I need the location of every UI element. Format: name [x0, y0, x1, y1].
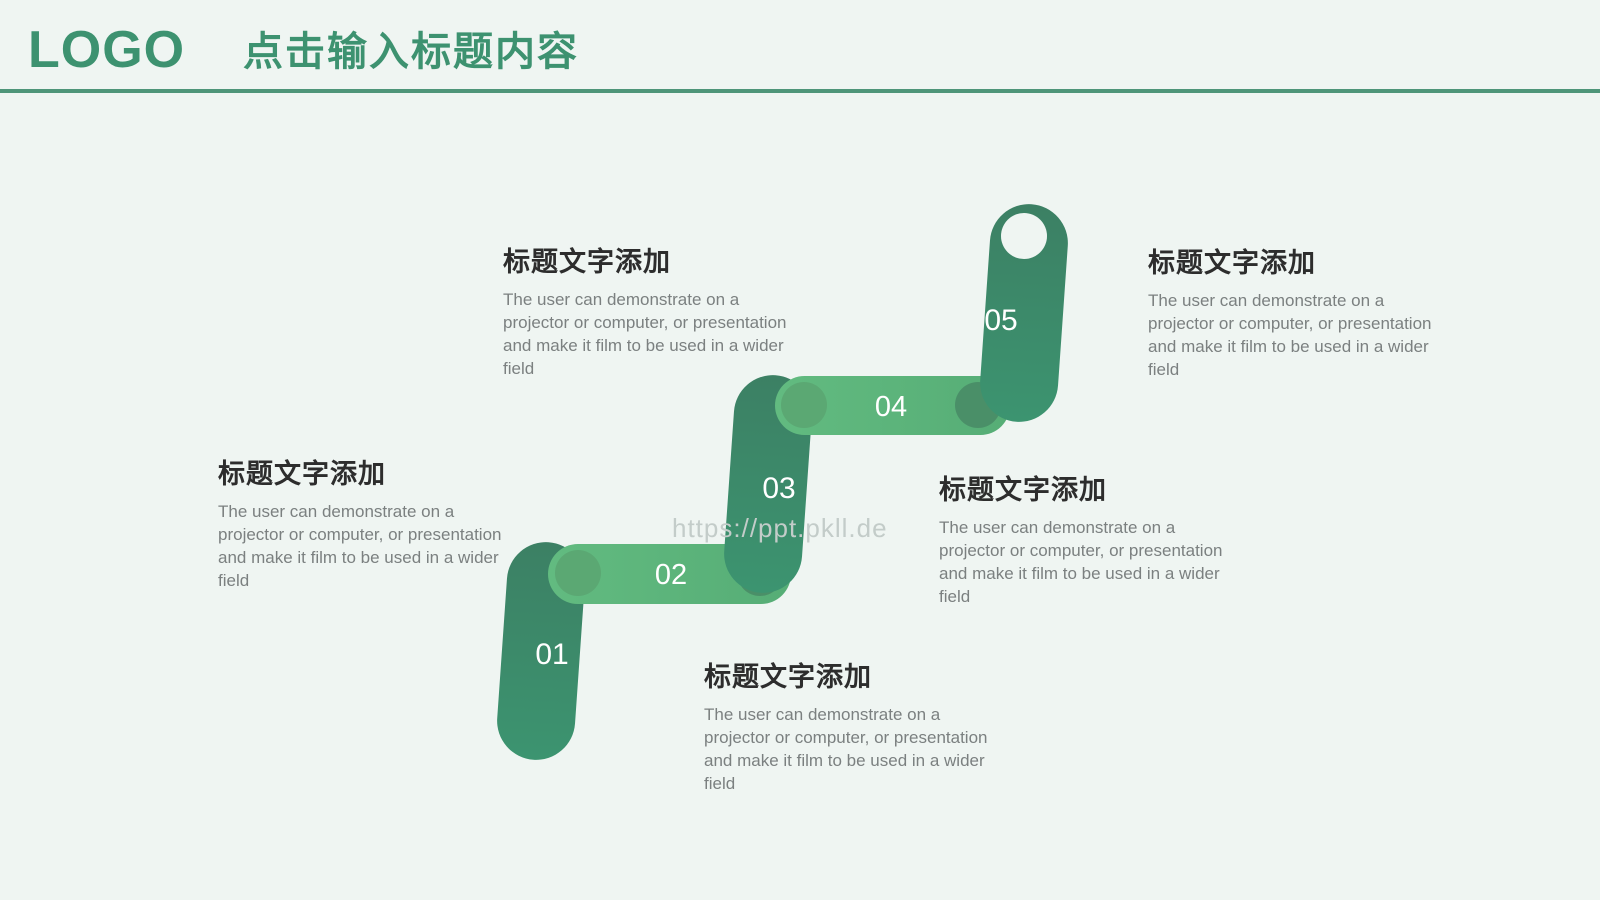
- step-title-02: 标题文字添加: [704, 660, 1000, 694]
- step-bar-04[interactable]: 04: [775, 376, 1010, 435]
- step-title-05: 标题文字添加: [1148, 246, 1438, 280]
- logo-text: LOGO: [28, 20, 185, 80]
- step-title-01: 标题文字添加: [218, 457, 508, 491]
- step-joint-04-left: [781, 382, 827, 428]
- step-body-02: The user can demonstrate on a projector …: [704, 703, 1000, 795]
- step-number-02: 02: [655, 559, 687, 591]
- step-number-03: 03: [762, 472, 795, 505]
- step-text-01: 标题文字添加 The user can demonstrate on a pro…: [218, 457, 508, 592]
- page-title[interactable]: 点击输入标题内容: [243, 26, 579, 78]
- step-body-03: The user can demonstrate on a projector …: [503, 288, 803, 380]
- step-number-05: 05: [984, 304, 1017, 337]
- slide-header: LOGO 点击输入标题内容: [0, 0, 1600, 92]
- step-body-05: The user can demonstrate on a projector …: [1148, 289, 1438, 381]
- step-text-03: 标题文字添加 The user can demonstrate on a pro…: [503, 245, 803, 380]
- step-number-01: 01: [535, 638, 568, 671]
- step-body-01: The user can demonstrate on a projector …: [218, 500, 508, 592]
- step-title-04: 标题文字添加: [939, 473, 1229, 507]
- step-body-04: The user can demonstrate on a projector …: [939, 516, 1229, 608]
- step-text-05: 标题文字添加 The user can demonstrate on a pro…: [1148, 246, 1438, 381]
- step-joint-02-left: [555, 550, 601, 596]
- step-title-03: 标题文字添加: [503, 245, 803, 279]
- step-number-04: 04: [875, 391, 907, 423]
- step-text-04: 标题文字添加 The user can demonstrate on a pro…: [939, 473, 1229, 608]
- step-text-02: 标题文字添加 The user can demonstrate on a pro…: [704, 660, 1000, 795]
